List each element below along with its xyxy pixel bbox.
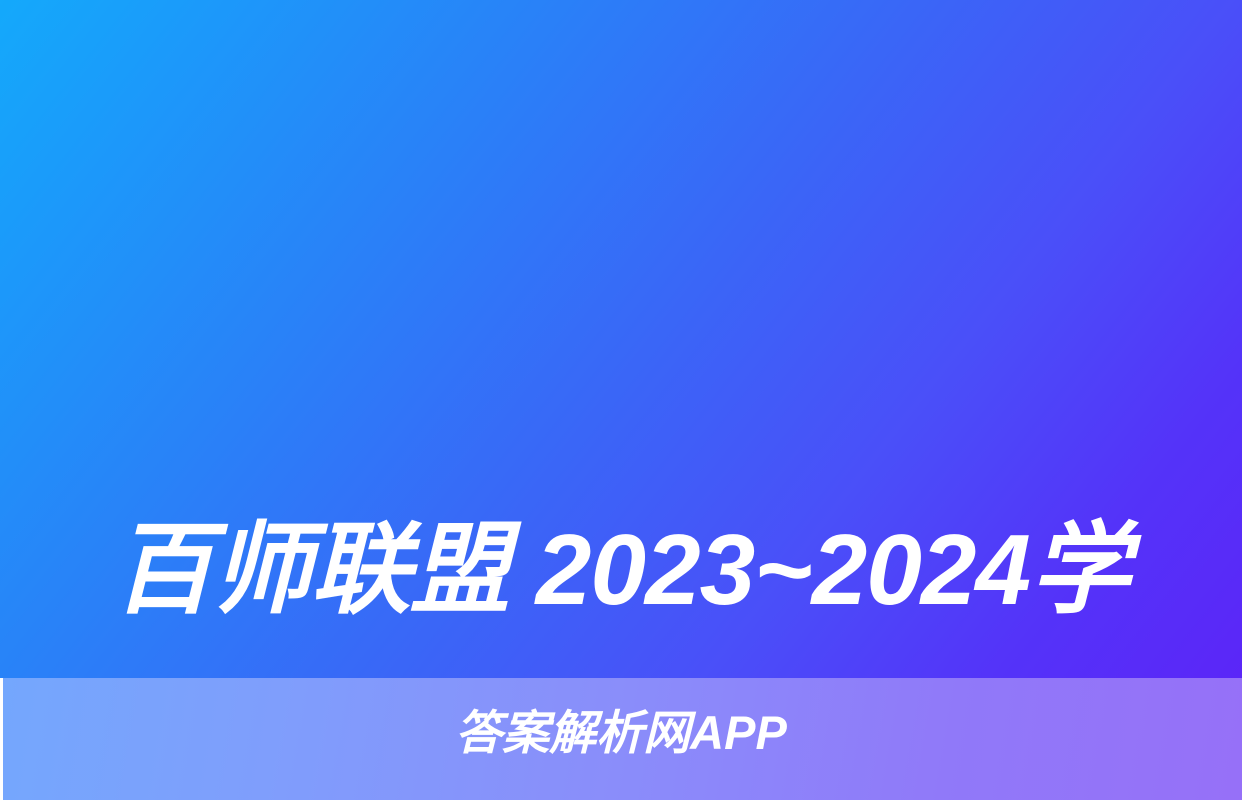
page-title-line-1: 百师联盟 2023~2024学 bbox=[0, 492, 1242, 649]
poster-canvas: 百师联盟 2023~2024学 年高二1月大联考历史(75 分钟)答案 答案解析… bbox=[0, 0, 1242, 800]
watermark-brand-label: 答案解析网APP bbox=[0, 706, 1242, 760]
